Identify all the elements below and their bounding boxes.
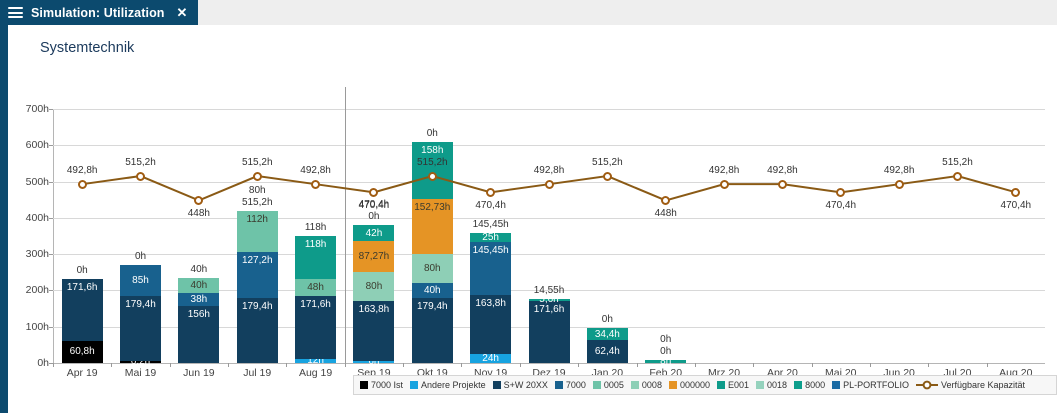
bar-segment-label: 87,27h [359, 251, 390, 262]
capacity-data-point[interactable] [311, 180, 320, 189]
gridline [53, 145, 1045, 146]
gridline [53, 254, 1045, 255]
bar-segment-label: 60,8h [70, 346, 95, 357]
capacity-point-label: 448h [655, 208, 677, 219]
capacity-point-label: 492,8h [67, 165, 98, 176]
capacity-point-label: 470,4h [825, 200, 856, 211]
bar-segment-label: 38h [191, 294, 208, 305]
legend-label: Andere Projekte [421, 380, 486, 390]
x-tick-mark [987, 363, 988, 367]
bar-column[interactable]: 6h163,8h80h87,27h42h [353, 225, 394, 363]
bar-segment-label: 171,6h [67, 282, 98, 293]
bar-total-label: 515,2h [217, 197, 298, 208]
bar-segment[interactable]: 112h [237, 211, 278, 252]
legend-swatch-icon [631, 381, 639, 389]
bar-segment-label: 34,4h [595, 329, 620, 340]
capacity-point-label: 492,8h [300, 165, 331, 176]
bar-segment-label: 156h [188, 309, 210, 320]
x-tick-mark [637, 363, 638, 367]
legend-item-verfuegbare-kapazitaet[interactable]: Verfügbare Kapazität [916, 380, 1025, 390]
bar-segment[interactable]: 40h [178, 278, 219, 293]
legend-item-andere-projekte[interactable]: Andere Projekte [410, 380, 486, 390]
y-axis-label: 300h [7, 248, 49, 260]
legend-label: 8000 [805, 380, 825, 390]
bar-segment[interactable]: 6,2h [120, 361, 161, 363]
bar-segment-label: 80h [424, 263, 441, 274]
bar-segment-label: 112h [246, 214, 268, 225]
bar-total-label: 0h [392, 128, 473, 139]
hamburger-icon[interactable] [8, 7, 23, 18]
bar-extra-label: 80h [212, 185, 302, 196]
x-tick-mark [345, 363, 346, 367]
bar-column[interactable]: 6,2h179,4h85h [120, 265, 161, 363]
bar-segment[interactable]: 5,6h [529, 299, 570, 301]
bar-segment[interactable]: 8h [645, 360, 686, 363]
legend-label: 0018 [767, 380, 787, 390]
capacity-data-point[interactable] [603, 172, 612, 181]
legend-item-8000[interactable]: 8000 [794, 380, 825, 390]
bar-segment[interactable]: 24h [470, 354, 511, 363]
y-axis-label: 700h [7, 103, 49, 115]
x-tick-mark [578, 363, 579, 367]
chart-legend[interactable]: 7000 IstAndere ProjekteS+W 20XX700000050… [353, 375, 1057, 395]
x-tick-mark [170, 363, 171, 367]
legend-label: S+W 20XX [504, 380, 548, 390]
bar-segment[interactable]: 171,6h [529, 301, 570, 363]
legend-swatch-icon [717, 381, 725, 389]
bar-segment-label: 80h [366, 281, 383, 292]
legend-item-7000-ist[interactable]: 7000 Ist [360, 380, 403, 390]
x-tick-mark [695, 363, 696, 367]
y-axis-label: 600h [7, 139, 49, 151]
capacity-data-point[interactable] [836, 188, 845, 197]
bar-segment-label: 127,2h [242, 255, 273, 266]
bar-segment[interactable]: 42h [353, 225, 394, 240]
bar-segment-label: 85h [132, 275, 149, 286]
bar-segment[interactable]: 6h [353, 361, 394, 363]
x-axis-line [53, 363, 1045, 364]
legend-item-0018[interactable]: 0018 [756, 380, 787, 390]
bar-segment[interactable]: 179,4h [120, 296, 161, 361]
capacity-data-point[interactable] [895, 180, 904, 189]
bar-column[interactable]: 60,8h171,6h [62, 279, 103, 363]
bar-segment-label: 5,6h [539, 294, 558, 305]
bar-segment[interactable]: 127,2h [237, 252, 278, 298]
x-axis-label: Mai 19 [125, 367, 157, 379]
legend-swatch-icon [360, 381, 368, 389]
bar-segment[interactable]: 25h [470, 233, 511, 242]
bar-total-label: 145,45h [450, 219, 531, 230]
tab-simulation-utilization[interactable]: Simulation: Utilization ✕ [0, 0, 198, 25]
bar-total-label: 0h [100, 251, 181, 262]
y-tick-mark [49, 290, 53, 291]
capacity-data-point[interactable] [720, 180, 729, 189]
bar-segment[interactable]: 87,27h [353, 241, 394, 273]
capacity-data-point[interactable] [136, 172, 145, 181]
x-tick-mark [520, 363, 521, 367]
bar-segment-label: 42h [366, 228, 383, 239]
legend-swatch-icon [493, 381, 501, 389]
bar-segment-label: 62,4h [595, 346, 620, 357]
legend-item-pl-portfolio[interactable]: PL-PORTFOLIO [832, 380, 909, 390]
bar-total-label: 14,55h [509, 285, 590, 296]
bar-segment-label: 163,8h [359, 304, 390, 315]
legend-label: 7000 Ist [371, 380, 403, 390]
bar-segment[interactable]: 171,6h [295, 296, 336, 358]
capacity-point-label: 470,4h [1001, 200, 1032, 211]
x-tick-mark [812, 363, 813, 367]
legend-item-0008[interactable]: 0008 [631, 380, 662, 390]
bar-segment-label: 8h [660, 356, 671, 367]
legend-item-s-w-20xx[interactable]: S+W 20XX [493, 380, 548, 390]
bar-total-label: 118h [275, 222, 356, 233]
legend-item-000000[interactable]: 000000 [669, 380, 710, 390]
capacity-point-label: 492,8h [767, 165, 798, 176]
page-title: Systemtechnik [40, 40, 134, 56]
legend-swatch-icon [832, 381, 840, 389]
bar-total-label: 0h [42, 265, 123, 276]
bar-column[interactable]: 12h171,6h48h118h [295, 236, 336, 363]
bar-segment[interactable]: 156h [178, 306, 219, 363]
gridline [53, 109, 1045, 110]
capacity-point-label: 448h [188, 208, 210, 219]
legend-swatch-icon [756, 381, 764, 389]
x-axis-label: Aug 19 [299, 367, 332, 379]
capacity-line-icon [916, 380, 938, 390]
y-tick-mark [49, 109, 53, 110]
bar-segment[interactable]: 80h [353, 272, 394, 301]
y-axis-label: 100h [7, 321, 49, 333]
bar-segment[interactable]: 179,4h [412, 298, 453, 363]
bar-segment-label: 40h [191, 280, 208, 291]
bar-segment[interactable]: 163,8h [353, 301, 394, 360]
bar-segment-label: 152,73h [414, 202, 450, 213]
y-axis-label: 400h [7, 212, 49, 224]
capacity-data-point[interactable] [428, 172, 437, 181]
y-axis-label: 0h [7, 357, 49, 369]
window-titlebar: Simulation: Utilization ✕ [0, 0, 1057, 25]
legend-item-e001[interactable]: E001 [717, 380, 749, 390]
tab-title: Simulation: Utilization [31, 6, 165, 20]
y-tick-mark [49, 218, 53, 219]
bar-column[interactable]: 171,6h5,6h [529, 299, 570, 363]
capacity-data-point[interactable] [953, 172, 962, 181]
x-tick-mark [286, 363, 287, 367]
legend-swatch-icon [669, 381, 677, 389]
capacity-point-label: 515,2h [592, 157, 623, 168]
legend-item-0005[interactable]: 0005 [593, 380, 624, 390]
bar-segment-label: 179,4h [125, 299, 156, 310]
bar-segment[interactable]: 158h [412, 142, 453, 199]
bar-extra-label: 0h [621, 334, 711, 345]
legend-item-7000[interactable]: 7000 [555, 380, 586, 390]
bar-column[interactable]: 156h38h40h [178, 278, 219, 363]
bar-column[interactable]: 24h163,8h145,45h25h [470, 233, 511, 363]
legend-swatch-icon [593, 381, 601, 389]
capacity-data-point[interactable] [253, 172, 262, 181]
legend-label: 0008 [642, 380, 662, 390]
bar-segment[interactable]: 179,4h [237, 298, 278, 363]
bar-total-label: 0h [333, 211, 414, 222]
bar-segment-label: 40h [424, 285, 441, 296]
x-tick-mark [870, 363, 871, 367]
capacity-point-label: 492,8h [534, 165, 565, 176]
x-axis-label: Jul 19 [243, 367, 271, 379]
x-tick-mark [753, 363, 754, 367]
bar-segment[interactable]: 40h [412, 283, 453, 298]
y-tick-mark [49, 182, 53, 183]
bar-segment[interactable]: 163,8h [470, 295, 511, 354]
y-axis-line [53, 109, 54, 363]
x-tick-mark [111, 363, 112, 367]
bar-segment[interactable]: 80h [412, 254, 453, 283]
capacity-point-label: 515,2h [417, 157, 448, 168]
bar-segment-label: 171,6h [300, 299, 331, 310]
bar-segment-label: 24h [482, 353, 499, 364]
bar-segment-label: 179,4h [242, 301, 273, 312]
bar-total-label: 40h [158, 264, 239, 275]
y-tick-mark [49, 254, 53, 255]
bar-segment[interactable]: 171,6h [62, 279, 103, 341]
bar-segment[interactable]: 85h [120, 265, 161, 296]
y-tick-mark [49, 145, 53, 146]
bar-total-label: 0h [625, 346, 706, 357]
capacity-point-label: 515,2h [125, 157, 156, 168]
bar-segment[interactable]: 38h [178, 293, 219, 307]
capacity-data-point[interactable] [78, 180, 87, 189]
legend-label: 0005 [604, 380, 624, 390]
legend-swatch-icon [555, 381, 563, 389]
bar-segment-label: 48h [307, 282, 324, 293]
bar-segment[interactable]: 48h [295, 279, 336, 296]
capacity-data-point[interactable] [545, 180, 554, 189]
y-axis-label: 500h [7, 176, 49, 188]
y-axis-label: 200h [7, 284, 49, 296]
x-tick-mark [403, 363, 404, 367]
bar-segment[interactable]: 60,8h [62, 341, 103, 363]
capacity-data-point[interactable] [486, 188, 495, 197]
x-tick-mark [928, 363, 929, 367]
capacity-point-label: 470,4h [475, 200, 506, 211]
x-tick-mark [228, 363, 229, 367]
bar-segment[interactable]: 118h [295, 236, 336, 279]
close-icon[interactable]: ✕ [173, 5, 188, 21]
legend-label: Verfügbare Kapazität [941, 380, 1025, 390]
capacity-data-point[interactable] [1011, 188, 1020, 197]
legend-label: PL-PORTFOLIO [843, 380, 909, 390]
capacity-data-point[interactable] [661, 196, 670, 205]
bar-segment-label: 171,6h [534, 304, 565, 315]
capacity-data-point[interactable] [778, 180, 787, 189]
bar-segment-label: 163,8h [475, 298, 506, 309]
capacity-point-label: 515,2h [942, 157, 973, 168]
capacity-data-point[interactable] [194, 196, 203, 205]
bar-segment[interactable]: 145,45h [470, 242, 511, 295]
bar-segment-label: 145,45h [473, 245, 509, 256]
capacity-point-label: 470,4h [359, 200, 390, 211]
legend-swatch-icon [410, 381, 418, 389]
bar-column[interactable]: 8h [645, 360, 686, 363]
chart-plot-area: 0h100h200h300h400h500h600h700hApr 19Mai … [53, 109, 1045, 363]
legend-label: 000000 [680, 380, 710, 390]
legend-swatch-icon [794, 381, 802, 389]
y-tick-mark [49, 327, 53, 328]
bar-segment-label: 179,4h [417, 301, 448, 312]
legend-label: E001 [728, 380, 749, 390]
x-axis-label: Apr 19 [67, 367, 98, 379]
capacity-data-point[interactable] [369, 188, 378, 197]
bar-segment-label: 25h [482, 232, 499, 243]
bar-segment-label: 158h [421, 145, 443, 156]
x-tick-mark [461, 363, 462, 367]
capacity-point-label: 492,8h [884, 165, 915, 176]
bar-segment-label: 118h [305, 239, 327, 250]
page-body: Systemtechnik 0h100h200h300h400h500h600h… [0, 25, 1057, 413]
capacity-point-label: 515,2h [242, 157, 273, 168]
bar-column[interactable]: 179,4h127,2h112h [237, 211, 278, 363]
x-tick-mark [53, 363, 54, 367]
x-axis-label: Jun 19 [183, 367, 215, 379]
bar-total-label: 0h [567, 314, 648, 325]
legend-label: 7000 [566, 380, 586, 390]
capacity-point-label: 492,8h [709, 165, 740, 176]
utilization-chart[interactable]: 0h100h200h300h400h500h600h700hApr 19Mai … [8, 77, 1057, 413]
bar-segment[interactable]: 12h [295, 359, 336, 363]
